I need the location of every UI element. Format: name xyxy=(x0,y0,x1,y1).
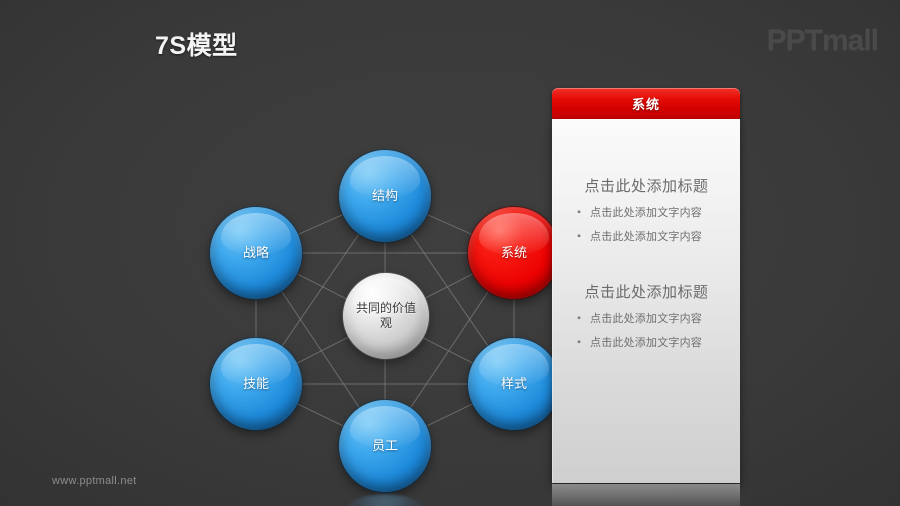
bullet-text: 点击此处添加文字内容 xyxy=(590,311,702,327)
node-reflection xyxy=(343,494,427,506)
panel-body: 点击此处添加标题▪点击此处添加文字内容▪点击此处添加文字内容点击此处添加标题▪点… xyxy=(552,119,740,483)
bullet-text: 点击此处添加文字内容 xyxy=(590,229,702,245)
slide-canvas: 7S模型 PPTmall www.pptmall.net 结构系统样式员工技能战… xyxy=(0,0,900,506)
panel-reflection xyxy=(552,484,740,506)
bullet-dot-icon: ▪ xyxy=(575,311,583,327)
panel-header[interactable]: 系统 xyxy=(552,88,740,119)
panel-header-title: 系统 xyxy=(632,94,660,113)
node-label: 技能 xyxy=(243,376,269,392)
node-技能[interactable]: 技能 xyxy=(210,338,302,430)
seven-s-diagram: 结构系统样式员工技能战略共同的价值观 xyxy=(140,85,540,485)
bullet-text: 点击此处添加文字内容 xyxy=(590,335,702,351)
panel-block: 点击此处添加标题▪点击此处添加文字内容▪点击此处添加文字内容 xyxy=(565,175,728,245)
node-label: 共同的价值观 xyxy=(356,301,416,331)
block-title[interactable]: 点击此处添加标题 xyxy=(565,281,728,302)
node-shared-values[interactable]: 共同的价值观 xyxy=(343,273,429,359)
footer-url: www.pptmall.net xyxy=(52,475,137,487)
node-label: 样式 xyxy=(501,376,527,392)
connector-line xyxy=(427,215,472,235)
connector-line xyxy=(297,404,343,426)
panel-block: 点击此处添加标题▪点击此处添加文字内容▪点击此处添加文字内容 xyxy=(565,281,728,351)
bullet-text: 点击此处添加文字内容 xyxy=(590,205,702,221)
brand-logo: PPTmall xyxy=(767,24,878,58)
node-label: 系统 xyxy=(501,245,527,261)
node-系统[interactable]: 系统 xyxy=(468,207,560,299)
block-title[interactable]: 点击此处添加标题 xyxy=(565,175,728,196)
bullet-row[interactable]: ▪点击此处添加文字内容 xyxy=(575,311,728,327)
info-panel: 系统 点击此处添加标题▪点击此处添加文字内容▪点击此处添加文字内容点击此处添加标… xyxy=(552,88,740,483)
connector-line xyxy=(426,404,472,426)
bullet-dot-icon: ▪ xyxy=(575,335,583,351)
bullet-row[interactable]: ▪点击此处添加文字内容 xyxy=(575,205,728,221)
node-label: 结构 xyxy=(372,188,398,204)
bullet-dot-icon: ▪ xyxy=(575,205,583,221)
bullet-row[interactable]: ▪点击此处添加文字内容 xyxy=(575,335,728,351)
bullet-dot-icon: ▪ xyxy=(575,229,583,245)
node-label: 员工 xyxy=(372,438,398,454)
node-结构[interactable]: 结构 xyxy=(339,150,431,242)
node-样式[interactable]: 样式 xyxy=(468,338,560,430)
connector-line xyxy=(298,215,343,235)
node-战略[interactable]: 战略 xyxy=(210,207,302,299)
page-title: 7S模型 xyxy=(155,26,238,62)
bullet-row[interactable]: ▪点击此处添加文字内容 xyxy=(575,229,728,245)
node-label: 战略 xyxy=(243,245,269,261)
node-员工[interactable]: 员工 xyxy=(339,400,431,492)
